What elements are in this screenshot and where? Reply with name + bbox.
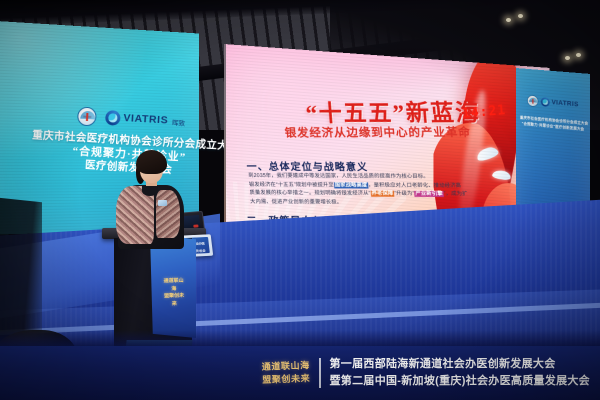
left-banner-logos: VIATRIS 晖致 (33, 104, 230, 134)
presenter-badge (158, 200, 167, 206)
viatris-wordmark: VIATRIS (123, 113, 168, 126)
chongqing-medical-association-logo (527, 95, 538, 107)
bottom-banner-calligraphy: 通道联山海 盟聚创未来 (262, 359, 311, 387)
presenter-collar (142, 186, 158, 196)
slide-highlight-pension: 养老保障 (370, 191, 394, 197)
presenter-person (112, 148, 188, 258)
viatris-swirl-icon (541, 97, 550, 107)
slide-body-text: 到2035年，我们要建成中等发达国家， (248, 173, 342, 179)
chongqing-medical-association-logo (77, 106, 97, 126)
podium-calligraphy-logo: 通道联山海 盟聚创未来 (161, 278, 186, 309)
podium-calligraphy-line1: 通道联山海 (161, 278, 186, 294)
bottom-calligraphy-line2: 盟聚创未来 (262, 372, 310, 387)
viatris-chinese-name: 晖致 (172, 116, 186, 127)
viatris-wordmark: VIATRIS (552, 99, 579, 108)
bottom-banner-title-line2: 暨第二届中国-新加坡(重庆)社会办医高质量发展大会 (330, 373, 591, 390)
right-banner-line2: “合规聚力·共慧诊业”医疗创新发展大会 (520, 121, 586, 133)
viatris-logo: VIATRIS 晖致 (105, 110, 186, 129)
slide-body-text: 大内需、促进产业创新的重要增长极。 (250, 199, 342, 206)
slide-body-text: 人民生活品质的提高作为核心目标。 (341, 173, 429, 179)
slide-body-text: ，是积极应对人口老龄化、推动经济高 (368, 182, 461, 189)
bottom-banner: 通道联山海 盟聚创未来 第一届西部陆海新通道社会办医创新发展大会 暨第二届中国-… (0, 346, 600, 400)
slide-body-text: 质量发展的核心举措之一。规划明确将银发经济从“ (249, 190, 370, 197)
viatris-swirl-icon (105, 110, 121, 126)
right-banner-line1: 重庆市社会医疗机构协会诊所分会成立大会 (520, 115, 586, 127)
slide-highlight-engine: 产业新引擎 (414, 191, 444, 197)
presenter-scarf (156, 190, 180, 238)
slide-body-text: ”，成为扩 (444, 191, 468, 197)
right-banner-content: VIATRIS 重庆市社会医疗机构协会诊所分会成立大会 “合规聚力·共慧诊业”医… (520, 90, 586, 133)
bottom-banner-fade (0, 330, 600, 346)
slide-subtitle: 银发经济从边缘到中心的产业革命 (284, 124, 548, 141)
slide-body-text: 银发经济在“十五五”规划中被提升至 (249, 181, 334, 187)
slide-highlight-strategy: 国家战略高度 (334, 182, 369, 188)
slide-body-1: 到2035年，我们要建成中等发达国家，人民生活品质的提高作为核心目标。 银发经济… (248, 172, 505, 208)
presenter-hair (136, 150, 167, 174)
right-banner-logos: VIATRIS (533, 95, 573, 110)
bottom-banner-title-line1: 第一届西部陆海新通道社会办医创新发展大会 (330, 356, 591, 373)
bottom-banner-titles: 第一届西部陆海新通道社会办医创新发展大会 暨第二届中国-新加坡(重庆)社会办医高… (330, 356, 591, 390)
slide-body-text: ”升级为“ (394, 191, 415, 197)
viatris-logo: VIATRIS (541, 97, 579, 109)
podium-calligraphy-line2: 盟聚创未来 (162, 293, 187, 309)
bottom-banner-divider (319, 358, 321, 388)
conference-photo: VIATRIS 晖致 重庆市社会医疗机构协会诊所分会成立大会 “合规聚力·共慧诊… (0, 0, 600, 400)
